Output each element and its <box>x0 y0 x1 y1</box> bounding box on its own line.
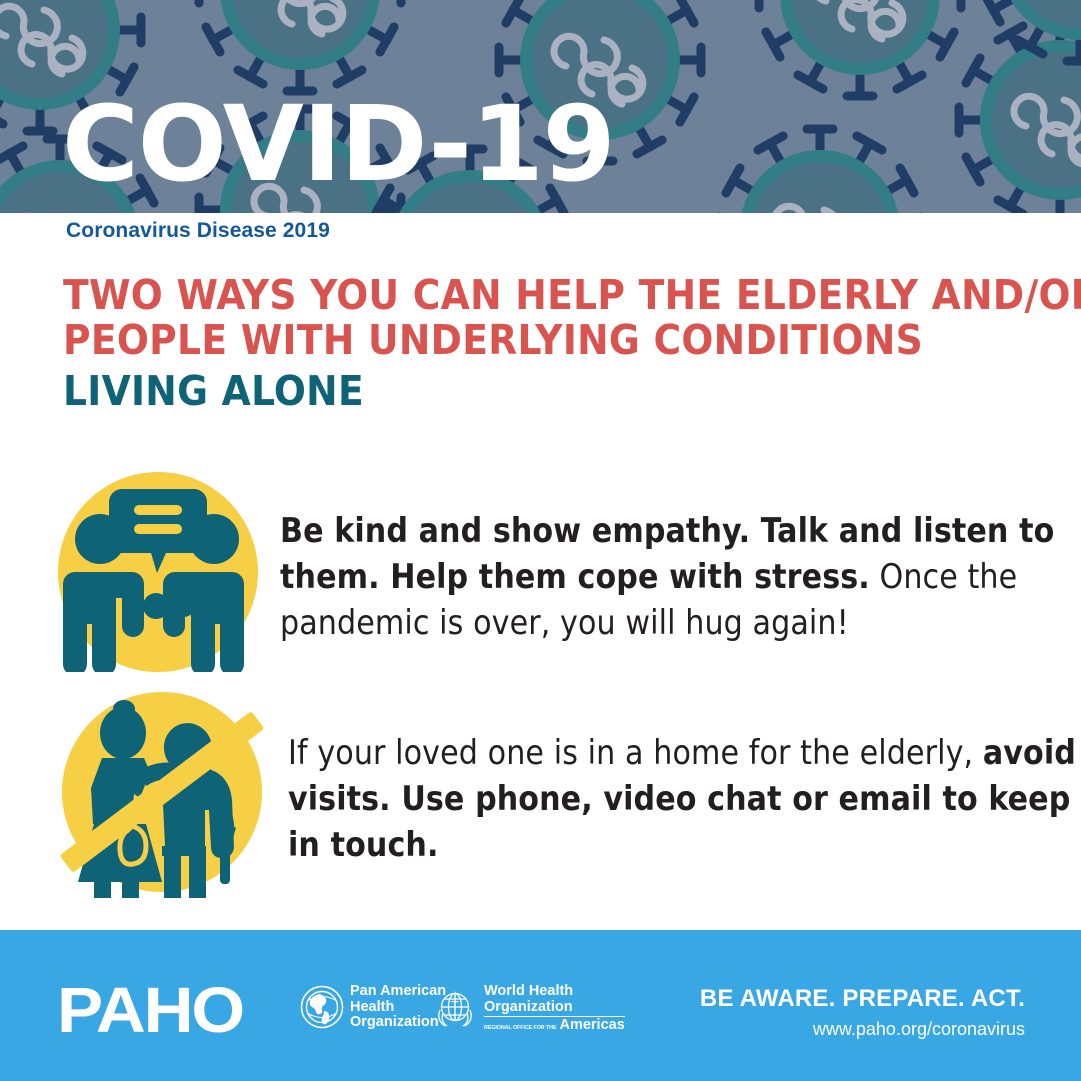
covid-subtitle: Coronavirus Disease 2019 <box>66 219 330 243</box>
paho-organization-logo: Pan American Health Organization <box>300 984 446 1031</box>
message-text-2: If your loved one is in a home for the e… <box>288 686 1078 868</box>
message-regular-2: If your loved one is in a home for the e… <box>288 733 983 772</box>
headline-line-3: LIVING ALONE <box>63 369 1042 414</box>
who-regional-row: REGIONAL OFFICE FOR THE Americas <box>484 1016 625 1033</box>
who-americas-label: Americas <box>559 1018 624 1033</box>
covid-infographic-poster: COVID-19 Coronavirus Disease 2019 TWO WA… <box>0 0 1081 1081</box>
who-org-line-2: Organization <box>484 1000 625 1016</box>
message-row-1: Be kind and show empathy. Talk and liste… <box>56 472 1070 672</box>
headline-block: TWO WAYS YOU CAN HELP THE ELDERLY AND/OR… <box>63 273 1023 414</box>
who-organization-logo: World Health Organization REGIONAL OFFIC… <box>432 984 625 1033</box>
header-banner: COVID-19 <box>0 0 1081 213</box>
no-visits-elderly-icon <box>56 686 268 898</box>
covid-title: COVID-19 <box>62 92 614 196</box>
message-row-2: If your loved one is in a home for the e… <box>56 686 1078 898</box>
paho-wordmark: PAHO <box>57 978 243 1042</box>
campaign-slogan: BE AWARE. PREPARE. ACT. <box>700 985 1025 1013</box>
who-emblem-icon <box>432 986 478 1032</box>
two-people-talking-icon <box>56 472 260 672</box>
who-org-line-1: World Health <box>484 984 625 1000</box>
message-text-1: Be kind and show empathy. Talk and liste… <box>280 472 1070 646</box>
website-url[interactable]: www.paho.org/coronavirus <box>813 1019 1025 1040</box>
paho-globe-icon <box>300 985 344 1029</box>
headline-line-2: PEOPLE WITH UNDERLYING CONDITIONS <box>63 318 1042 363</box>
headline-line-1: TWO WAYS YOU CAN HELP THE ELDERLY AND/OR <box>63 273 1042 318</box>
who-regional-label: REGIONAL OFFICE FOR THE <box>484 1024 556 1033</box>
who-organization-text: World Health Organization REGIONAL OFFIC… <box>484 984 625 1033</box>
